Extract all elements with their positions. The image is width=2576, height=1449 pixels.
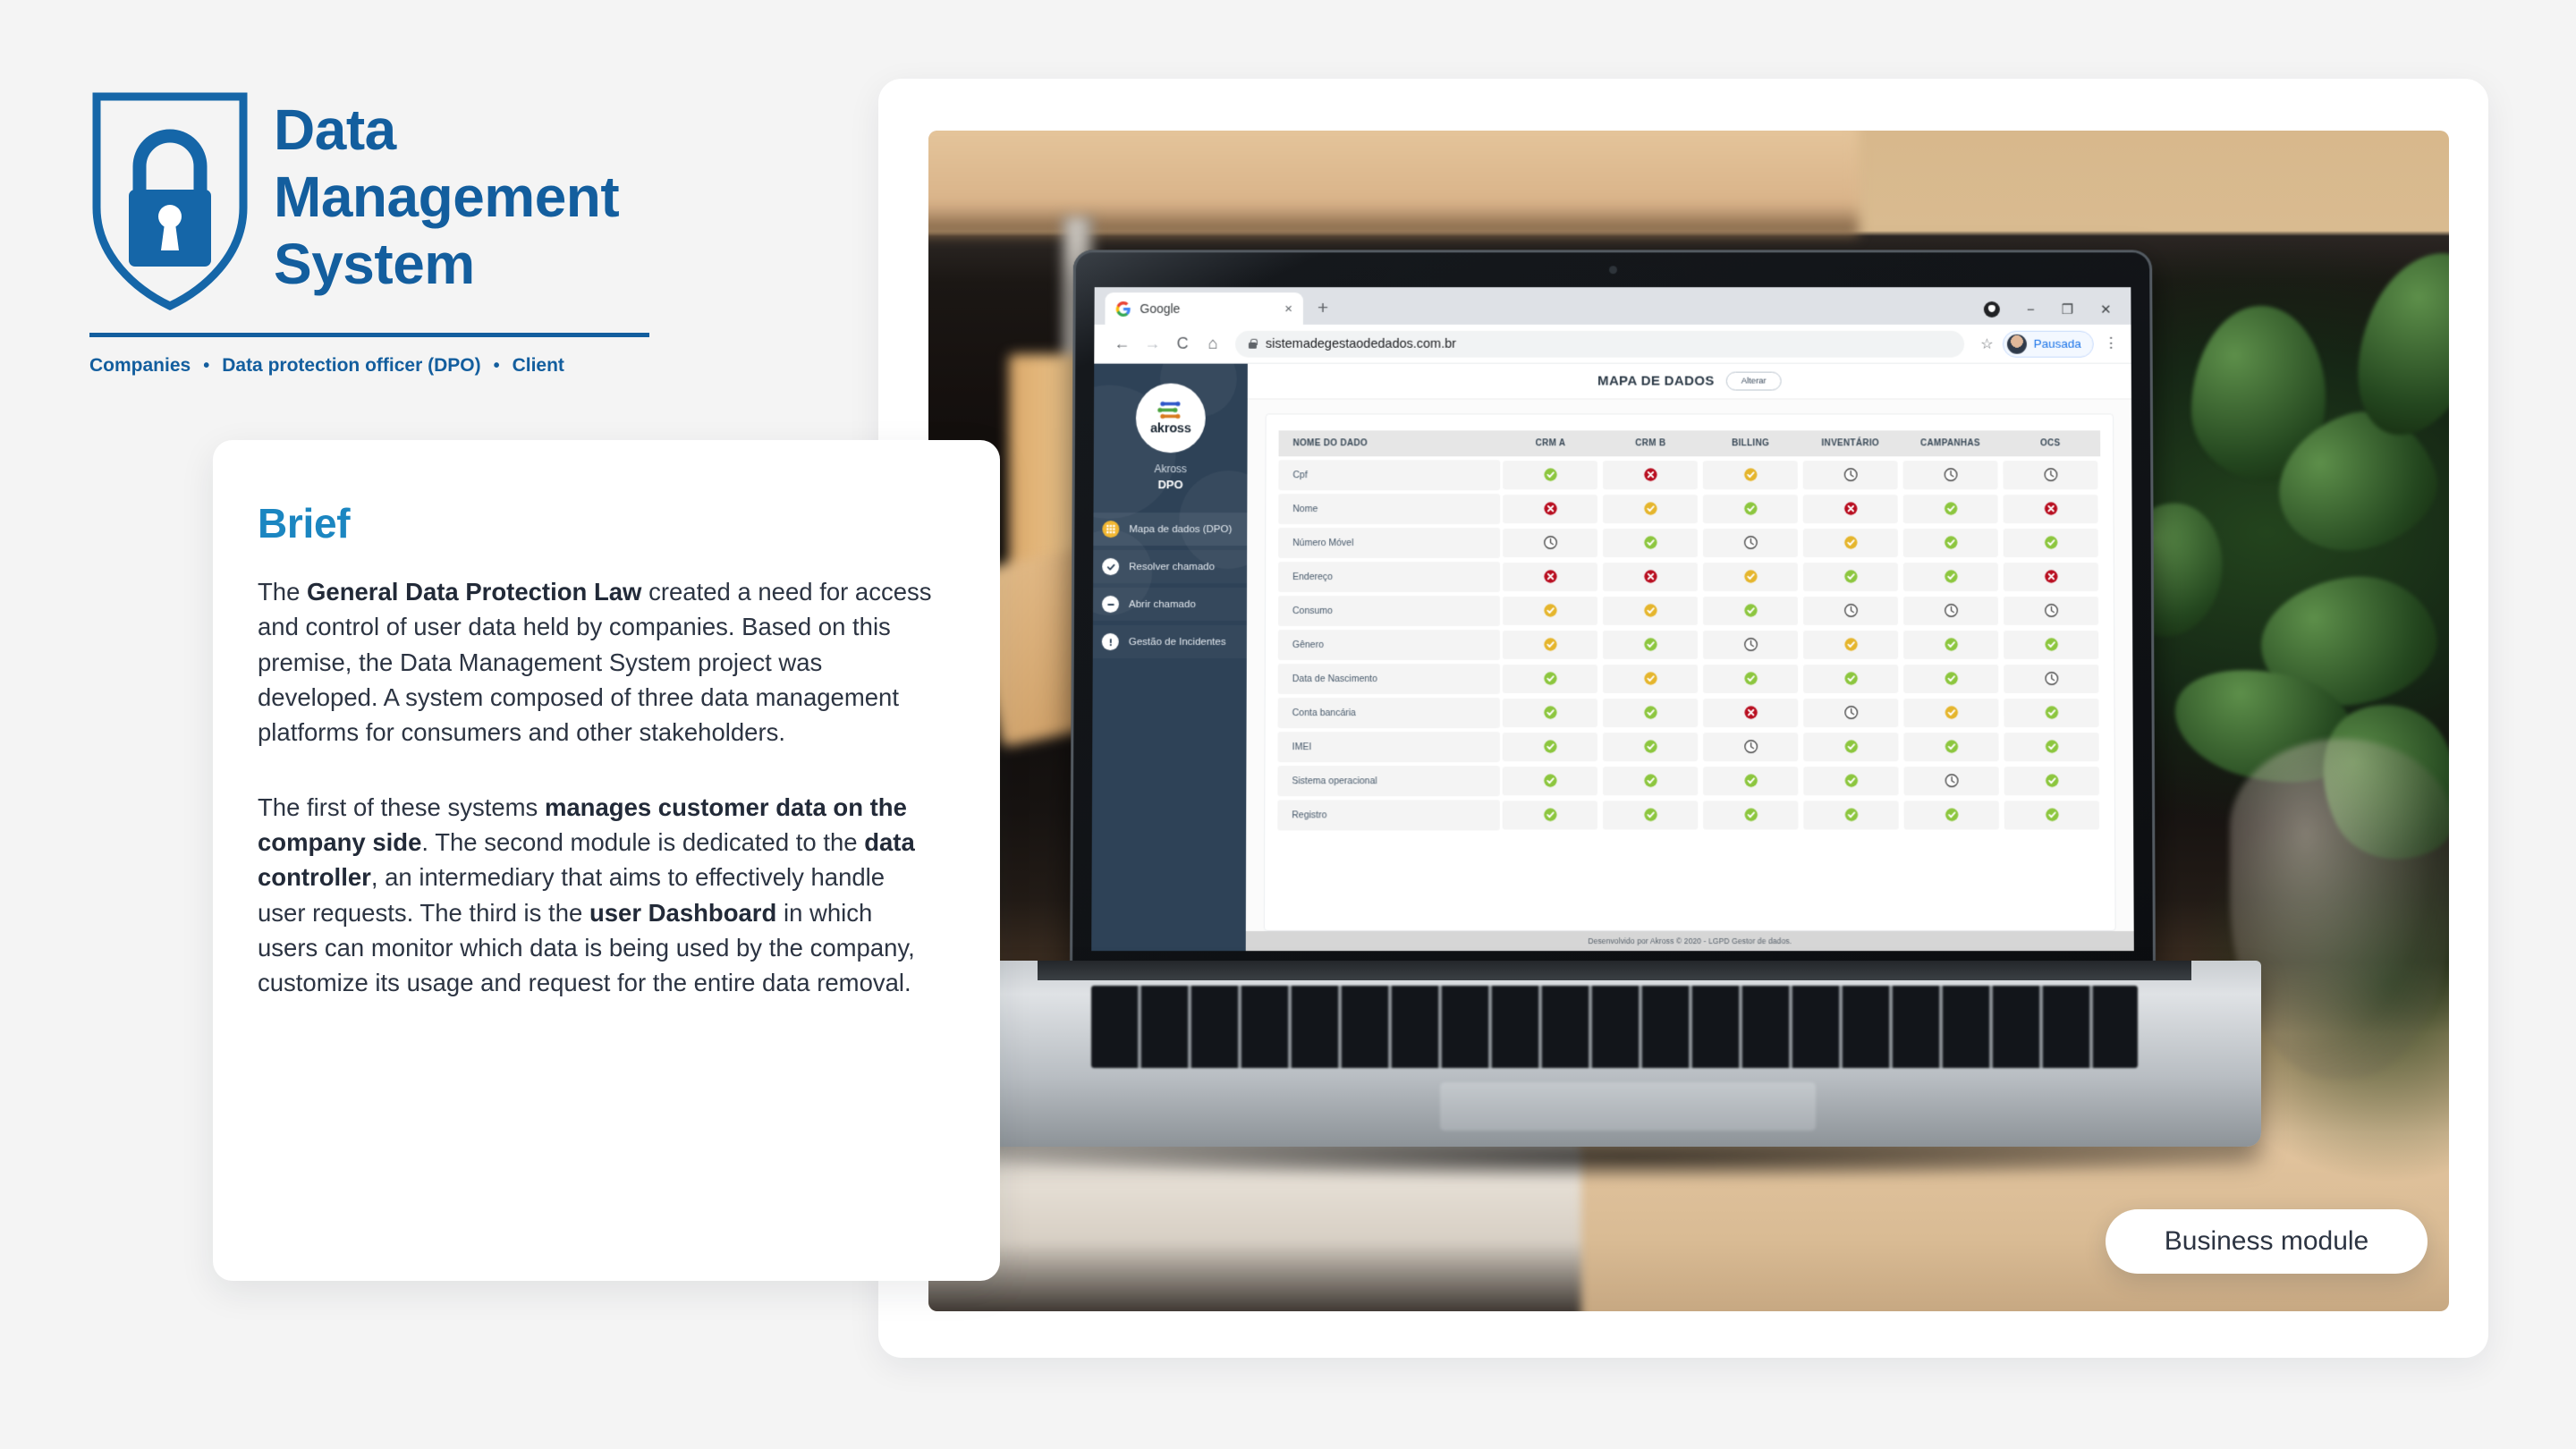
laptop-deck (966, 961, 2261, 1147)
status-cell-ok[interactable] (1603, 733, 1698, 761)
laptop: Google × + − ❐ ✕ ← (1072, 249, 2154, 1197)
brand-title-line-3: System (274, 231, 619, 298)
status-cell-ok[interactable] (1904, 801, 1999, 829)
akross-logo: akross (1136, 384, 1206, 453)
status-cell-ok[interactable] (1603, 631, 1698, 659)
brand-subtitle-client: Client (513, 355, 564, 377)
avatar (2007, 334, 2027, 353)
status-cell-ok[interactable] (1703, 665, 1798, 693)
brief-p2-part2: . The second module is dedicated to the (421, 828, 864, 856)
browser-tab[interactable]: Google × (1105, 292, 1303, 325)
data-name-cell: Registro (1277, 800, 1500, 830)
status-cell-ok[interactable] (1903, 665, 1998, 693)
brand-subtitle-separator-1: • (203, 357, 209, 375)
column-header: CRM B (1600, 430, 1700, 456)
alert-circle-icon (1102, 633, 1119, 650)
status-cell-ok[interactable] (1703, 801, 1798, 829)
url-text: sistemadegestaodedados.com.br (1266, 336, 1456, 351)
status-cell-ok[interactable] (1903, 563, 1998, 591)
lock-icon (1248, 338, 1258, 350)
status-cell-ok[interactable] (1903, 495, 1998, 523)
status-cell-pending[interactable] (1803, 597, 1898, 625)
akross-logo-text: akross (1150, 421, 1191, 436)
status-cell-ok[interactable] (1804, 801, 1899, 829)
table-row: Endereço (1278, 562, 2101, 592)
status-cell-pending[interactable] (1904, 767, 1999, 795)
sidebar-item-gestao-de-incidentes[interactable]: Gestão de Incidentes (1093, 625, 1247, 658)
brand-title-line-2: Management (274, 164, 619, 231)
sidebar-item-label: Mapa de dados (DPO) (1129, 524, 1232, 535)
table-row: Gênero (1278, 630, 2101, 660)
status-cell-ok[interactable] (1803, 563, 1898, 591)
status-cell-ok[interactable] (1803, 665, 1898, 693)
status-cell-error[interactable] (1503, 495, 1597, 523)
brand-divider (89, 333, 649, 337)
laptop-screen: Google × + − ❐ ✕ ← (1091, 287, 2134, 951)
status-cell-ok[interactable] (1803, 733, 1898, 761)
brief-heading: Brief (258, 499, 932, 547)
data-name-cell: Sistema operacional (1277, 766, 1500, 796)
data-name-cell: Endereço (1278, 562, 1500, 592)
status-cell-ok[interactable] (1703, 767, 1798, 795)
sidebar-item-label: Resolver chamado (1129, 562, 1215, 572)
status-cell-warn[interactable] (1603, 495, 1698, 523)
profile-chip[interactable]: Pausada (2003, 330, 2094, 357)
data-name-cell: Gênero (1278, 630, 1501, 660)
app-page-title: MAPA DE DADOS (1597, 374, 1715, 389)
status-cell-ok[interactable] (1603, 801, 1698, 829)
brand-subtitle-companies: Companies (89, 355, 191, 377)
status-cell-ok[interactable] (1903, 529, 1998, 557)
data-map-panel: NOME DO DADOCRM ACRM BBILLINGINVENTÁRIOC… (1264, 413, 2116, 931)
laptop-lid: Google × + − ❐ ✕ ← (1070, 250, 2156, 965)
reload-button[interactable]: C (1167, 335, 1198, 353)
alterar-button[interactable]: Alterar (1726, 372, 1782, 391)
table-row: Registro (1277, 800, 2102, 830)
status-cell-pending[interactable] (1803, 461, 1898, 489)
status-cell-ok[interactable] (2004, 699, 2098, 727)
status-cell-error[interactable] (2004, 563, 2098, 591)
home-button[interactable]: ⌂ (1198, 335, 1228, 353)
brand-subtitle: Companies • Data protection officer (DPO… (89, 355, 680, 377)
sidebar-item-resolver-chamado[interactable]: Resolver chamado (1093, 550, 1247, 583)
status-cell-ok[interactable] (1503, 665, 1597, 693)
status-cell-error[interactable] (1703, 699, 1798, 727)
status-cell-ok[interactable] (1603, 529, 1698, 557)
page-title: Data Management System (274, 89, 619, 298)
status-cell-pending[interactable] (2004, 665, 2098, 693)
browser-tab-title: Google (1140, 301, 1275, 316)
data-name-cell: Data de Nascimento (1278, 664, 1501, 694)
status-cell-ok[interactable] (1703, 495, 1798, 523)
status-cell-pending[interactable] (1703, 631, 1798, 659)
brand-subtitle-dpo: Data protection officer (DPO) (222, 355, 480, 377)
profile-name: Pausada (2034, 337, 2081, 351)
table-row: Conta bancária (1278, 698, 2102, 728)
data-name-cell: IMEI (1277, 732, 1500, 762)
status-cell-pending[interactable] (1703, 529, 1798, 557)
table-row: IMEI (1277, 732, 2101, 762)
status-cell-ok[interactable] (1903, 733, 1998, 761)
web-app: akross Akross DPO (1091, 364, 2134, 951)
brief-p1-bold1: General Data Protection Law (307, 578, 641, 606)
webcam-icon (1609, 266, 1617, 274)
status-cell-ok[interactable] (1703, 597, 1798, 625)
close-icon[interactable]: × (1284, 301, 1292, 317)
poster-page: Data Management System Companies • Data … (0, 0, 2576, 1449)
app-content: MAPA DE DADOS Alterar NOME DO DADOCRM AC… (1246, 364, 2134, 951)
browser-chrome: Google × + − ❐ ✕ ← (1094, 287, 2131, 364)
kebab-menu-icon[interactable]: ⋮ (2104, 339, 2119, 348)
column-header: BILLING (1700, 430, 1801, 456)
brief-paragraph-1: The General Data Protection Law created … (258, 574, 932, 750)
brand-title-line-1: Data (274, 97, 619, 164)
status-cell-warn[interactable] (1703, 563, 1798, 591)
shield-lock-icon (89, 89, 250, 313)
data-name-cell: Nome (1278, 494, 1500, 524)
status-cell-ok[interactable] (1503, 767, 1597, 795)
google-icon (1115, 301, 1131, 317)
table-row: Sistema operacional (1277, 766, 2102, 796)
shield-dot-icon[interactable] (1984, 301, 2000, 318)
data-name-cell: Cpf (1278, 460, 1500, 490)
app-sidebar: akross Akross DPO (1091, 364, 1248, 951)
sidebar-item-label: Abrir chamado (1129, 599, 1196, 610)
sidebar-role: DPO (1094, 478, 1248, 491)
status-cell-ok[interactable] (2004, 767, 2099, 795)
status-cell-ok[interactable] (2004, 631, 2098, 659)
minus-circle-icon (1102, 596, 1119, 613)
forward-button[interactable]: → (1137, 335, 1167, 353)
brand-subtitle-separator-2: • (494, 357, 500, 375)
table-header-row: NOME DO DADOCRM ACRM BBILLINGINVENTÁRIOC… (1279, 430, 2101, 456)
window-controls: − ❐ ✕ (1984, 301, 2131, 325)
brief-p2-part1: The first of these systems (258, 793, 545, 821)
brand-header: Data Management System Companies • Data … (89, 89, 680, 377)
table-row: Data de Nascimento (1278, 664, 2102, 694)
status-cell-pending[interactable] (1903, 461, 1998, 489)
column-header: INVENTÁRIO (1801, 430, 1901, 456)
data-map-table: NOME DO DADOCRM ACRM BBILLINGINVENTÁRIOC… (1277, 427, 2102, 834)
column-header: CAMPANHAS (1901, 430, 2001, 456)
status-cell-ok[interactable] (1503, 699, 1597, 727)
status-cell-ok[interactable] (1603, 699, 1698, 727)
module-badge: Business module (2106, 1209, 2428, 1274)
table-body: CpfNomeNúmero MóvelEndereçoConsumoGênero… (1277, 460, 2102, 830)
akross-logo-mark (1156, 400, 1186, 419)
browser-tabstrip: Google × + − ❐ ✕ (1094, 287, 2131, 325)
data-name-cell: Número Móvel (1278, 528, 1500, 558)
status-cell-pending[interactable] (2003, 461, 2097, 489)
status-cell-warn[interactable] (1803, 529, 1898, 557)
sidebar-item-label: Gestão de Incidentes (1129, 637, 1226, 648)
new-tab-button[interactable]: + (1303, 298, 1343, 325)
sidebar-org-name: Akross (1094, 462, 1248, 475)
table-row: Número Móvel (1278, 528, 2101, 558)
minimize-button[interactable]: − (2027, 303, 2035, 317)
status-cell-warn[interactable] (1503, 597, 1597, 625)
module-badge-label: Business module (2165, 1226, 2368, 1257)
status-cell-ok[interactable] (2004, 529, 2098, 557)
desk-photo: Google × + − ❐ ✕ ← (928, 131, 2449, 1311)
sidebar-item-mapa-de-dados[interactable]: Mapa de dados (DPO) (1093, 513, 1247, 546)
status-cell-ok[interactable] (1903, 631, 1998, 659)
status-cell-warn[interactable] (1603, 597, 1698, 625)
status-cell-ok[interactable] (1503, 733, 1597, 761)
brief-p2-bold3: user Dashboard (589, 899, 776, 927)
browser-omnibar: ← → C ⌂ sistemadegestaodedados.com.br ☆ (1094, 325, 2131, 364)
app-topbar: MAPA DE DADOS Alterar (1248, 364, 2131, 400)
column-header: NOME DO DADO (1279, 430, 1501, 456)
data-name-cell: Consumo (1278, 596, 1500, 626)
url-input[interactable]: sistemadegestaodedados.com.br (1235, 330, 1965, 357)
window-close-button[interactable]: ✕ (2100, 303, 2112, 317)
status-cell-pending[interactable] (1903, 597, 1998, 625)
status-cell-warn[interactable] (1603, 665, 1698, 693)
back-button[interactable]: ← (1106, 335, 1137, 353)
grid-icon (1102, 521, 1119, 538)
brief-card: Brief The General Data Protection Law cr… (213, 440, 1000, 1281)
status-cell-ok[interactable] (1603, 767, 1698, 795)
photo-glass-jar (2230, 739, 2449, 1079)
check-circle-icon (1102, 558, 1119, 575)
sidebar-nav: Mapa de dados (DPO) Resolver chamado (1093, 513, 1248, 658)
star-icon[interactable]: ☆ (1980, 335, 1993, 352)
status-cell-error[interactable] (1503, 563, 1597, 591)
status-cell-error[interactable] (2004, 495, 2098, 523)
status-cell-pending[interactable] (1503, 529, 1597, 557)
maximize-button[interactable]: ❐ (2062, 303, 2073, 317)
table-row: Consumo (1278, 596, 2101, 626)
status-cell-error[interactable] (1603, 563, 1698, 591)
laptop-hinge (1038, 961, 2191, 980)
status-cell-ok[interactable] (2004, 801, 2099, 829)
status-cell-warn[interactable] (1703, 461, 1798, 489)
table-row: Nome (1278, 494, 2100, 524)
status-cell-error[interactable] (1603, 461, 1698, 489)
column-header: OCS (2000, 430, 2100, 456)
status-cell-warn[interactable] (1803, 631, 1898, 659)
status-cell-pending[interactable] (1803, 699, 1898, 727)
status-cell-ok[interactable] (1803, 767, 1898, 795)
brief-p1-part1: The (258, 578, 307, 606)
status-cell-ok[interactable] (2004, 733, 2098, 761)
status-cell-warn[interactable] (1903, 699, 1998, 727)
status-cell-pending[interactable] (1703, 733, 1798, 761)
column-header: CRM A (1501, 430, 1601, 456)
sidebar-item-abrir-chamado[interactable]: Abrir chamado (1093, 588, 1247, 621)
brief-paragraph-2: The first of these systems manages custo… (258, 790, 932, 1001)
data-name-cell: Conta bancária (1278, 698, 1501, 728)
status-cell-ok[interactable] (1504, 461, 1598, 489)
status-cell-error[interactable] (1803, 495, 1898, 523)
laptop-keyboard (1091, 986, 2138, 1068)
status-cell-ok[interactable] (1503, 801, 1597, 829)
status-cell-warn[interactable] (1503, 631, 1597, 659)
table-row: Cpf (1278, 460, 2100, 490)
app-footer: Desenvolvido por Akross © 2020 - LGPD Ge… (1246, 931, 2134, 951)
laptop-trackpad (1440, 1082, 1816, 1131)
status-cell-pending[interactable] (2004, 597, 2098, 625)
